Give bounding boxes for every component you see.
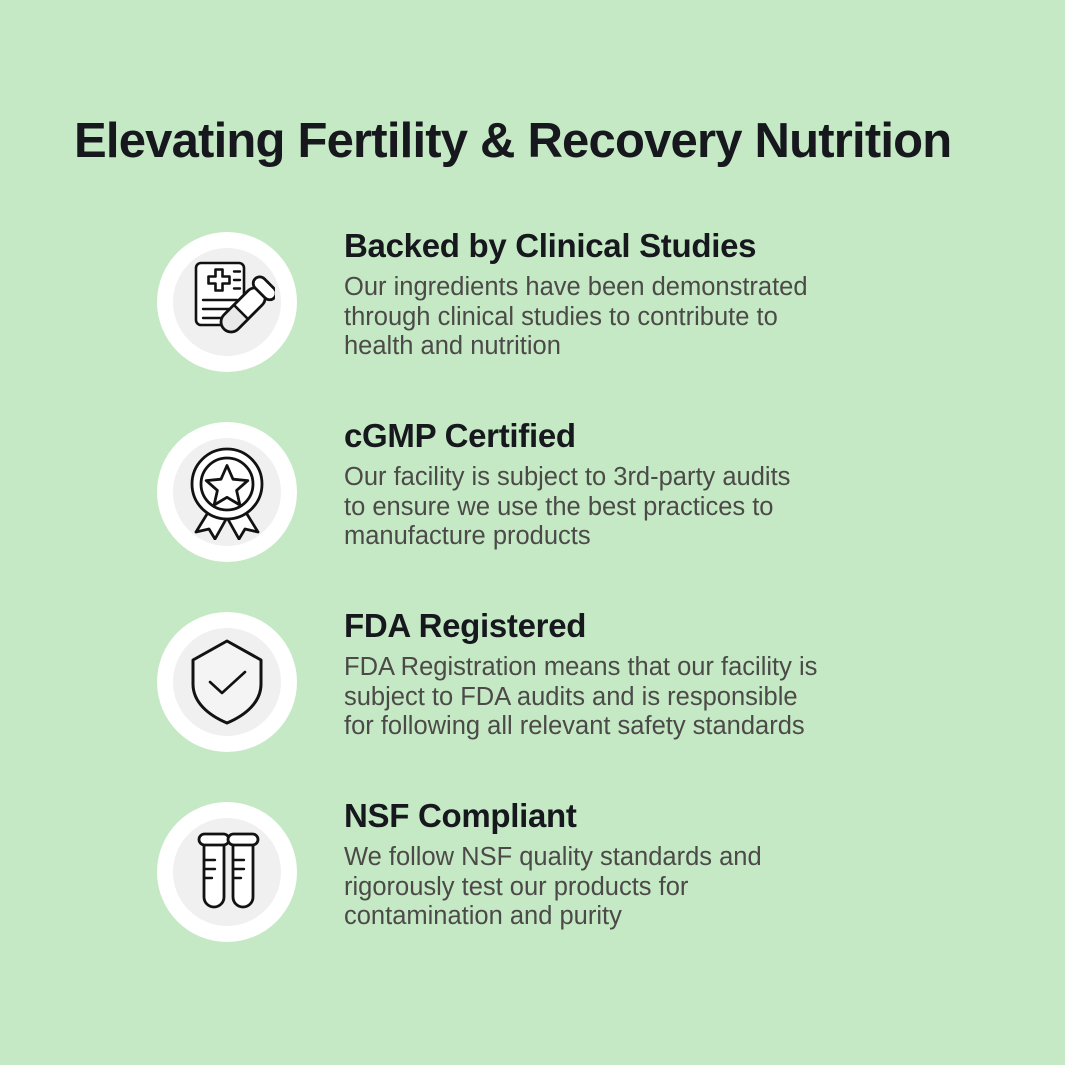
feature-item: Backed by Clinical Studies Our ingredien… <box>0 228 1065 418</box>
test-tubes-icon <box>179 824 275 920</box>
feature-title: NSF Compliant <box>344 798 1025 835</box>
feature-item: FDA Registered FDA Registration means th… <box>0 608 1065 798</box>
feature-icon-container <box>157 232 297 372</box>
feature-icon-container <box>157 802 297 942</box>
feature-description: Our ingredients have been demonstrated t… <box>344 273 884 362</box>
feature-description: Our facility is subject to 3rd-party aud… <box>344 463 884 552</box>
feature-icon-container <box>157 422 297 562</box>
feature-item: NSF Compliant We follow NSF quality stan… <box>0 798 1065 988</box>
feature-text-block: FDA Registered FDA Registration means th… <box>297 608 1065 742</box>
feature-text-block: NSF Compliant We follow NSF quality stan… <box>297 798 1065 932</box>
feature-icon-container <box>157 612 297 752</box>
feature-list: Backed by Clinical Studies Our ingredien… <box>0 228 1065 988</box>
infographic-card: Elevating Fertility & Recovery Nutrition <box>0 0 1065 1065</box>
feature-text-block: cGMP Certified Our facility is subject t… <box>297 418 1065 552</box>
feature-title: Backed by Clinical Studies <box>344 228 1025 265</box>
feature-title: cGMP Certified <box>344 418 1025 455</box>
feature-description: We follow NSF quality standards and rigo… <box>344 843 884 932</box>
shield-check-icon <box>179 634 275 730</box>
award-medal-star-icon <box>179 444 275 540</box>
page-title: Elevating Fertility & Recovery Nutrition <box>74 113 1014 169</box>
feature-item: cGMP Certified Our facility is subject t… <box>0 418 1065 608</box>
clinical-document-test-tube-icon <box>179 254 275 350</box>
feature-text-block: Backed by Clinical Studies Our ingredien… <box>297 228 1065 362</box>
feature-description: FDA Registration means that our facility… <box>344 653 884 742</box>
feature-title: FDA Registered <box>344 608 1025 645</box>
